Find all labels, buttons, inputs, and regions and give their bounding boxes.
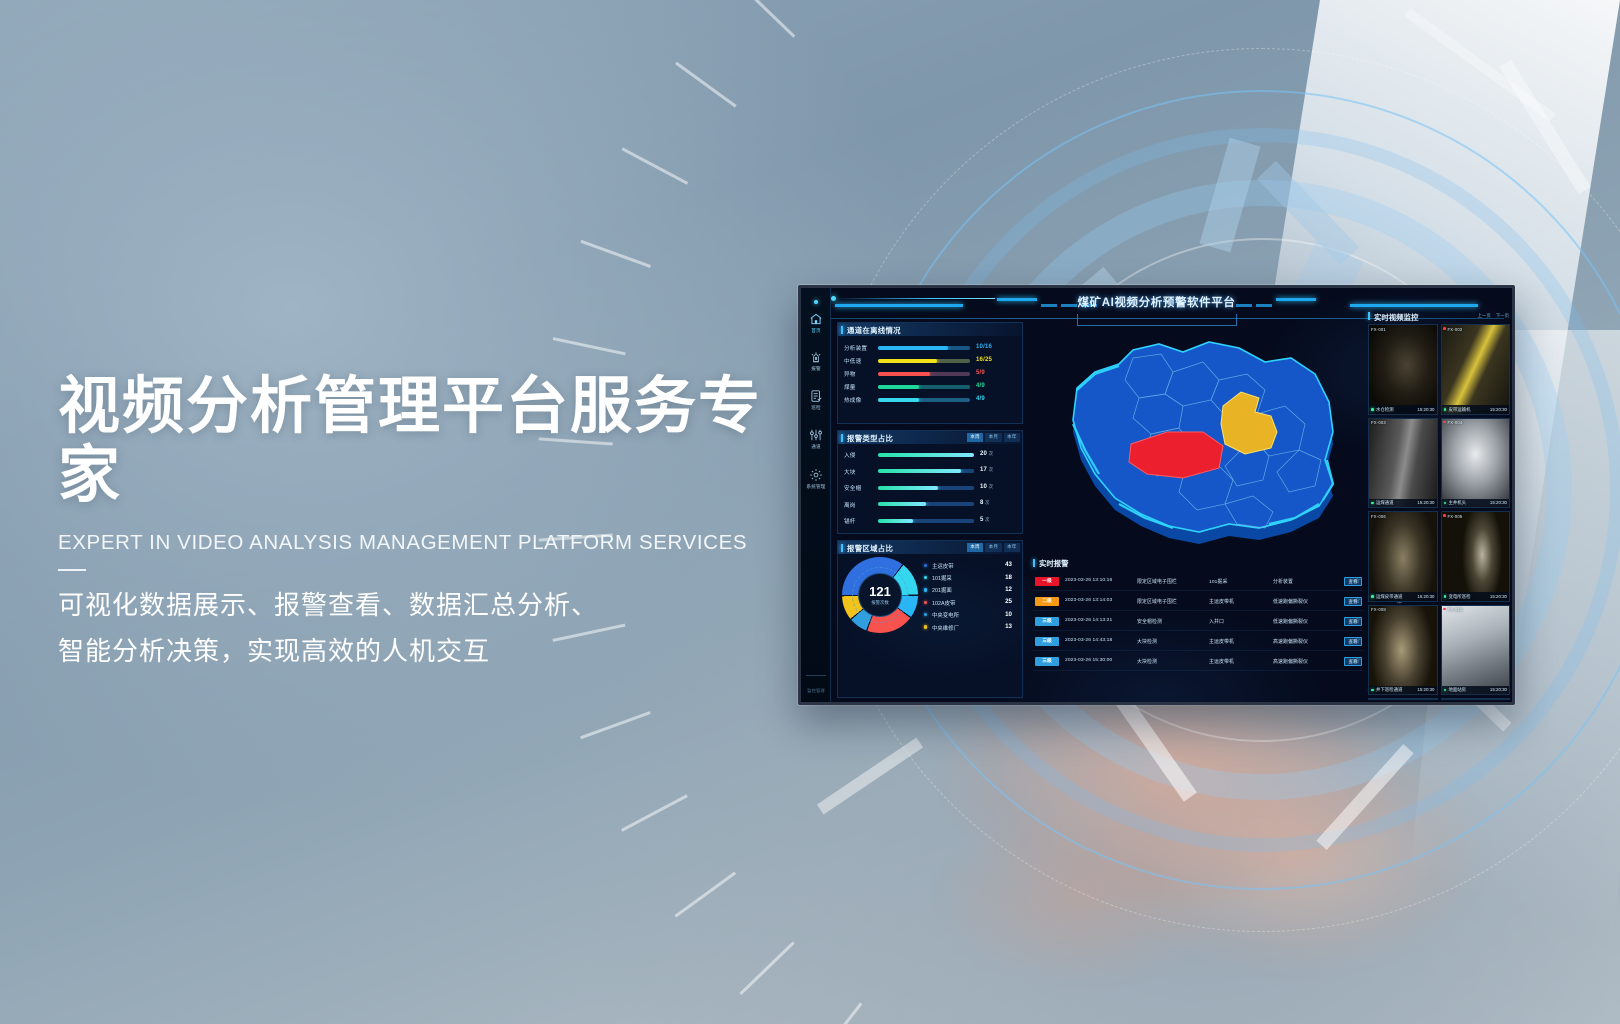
legend-color-dot: [924, 576, 927, 579]
alarm-type-panel-header: 报警类型占比 本周本月本年: [838, 431, 1022, 444]
alarm-type-track: [878, 502, 974, 506]
sidebar-item-system[interactable]: 系统管理: [801, 468, 831, 490]
video-scene: [1369, 606, 1437, 695]
decor-tick: [675, 62, 737, 108]
legend-value: 18: [1005, 574, 1012, 581]
alarm-type-row: 离岗8次: [838, 498, 1022, 515]
decor-tick: [740, 0, 795, 38]
tab-本年[interactable]: 本年: [1004, 433, 1020, 442]
alarm-area-legend: 主运皮带43101掘采18201掘面12102A皮带25中央变电所10中央维修厂…: [924, 559, 1018, 633]
legend-value: 25: [1005, 598, 1012, 605]
channel-row-value: 10/16: [976, 344, 992, 350]
alarm-location: 主运皮带机: [1209, 638, 1234, 645]
video-cell-footer: 入井盘查15:20:30: [1369, 698, 1437, 699]
sidebar-item-inspection[interactable]: 巡检: [801, 389, 831, 411]
recording-indicator: [1443, 327, 1446, 330]
video-cell-time: 15:20:30: [1417, 687, 1434, 692]
channel-panel-title: 通道在离线情况: [847, 325, 901, 336]
video-channel-id: FX-001: [1371, 327, 1386, 332]
alarm-level-badge: 三级: [1035, 617, 1059, 626]
online-led-icon: [1371, 689, 1374, 692]
video-prev-page[interactable]: 上一页: [1478, 313, 1491, 319]
legend-color-dot: [924, 588, 927, 591]
tab-本周[interactable]: 本周: [967, 433, 983, 442]
video-cell[interactable]: FX-006运煤皮带通道15:20:30: [1368, 511, 1438, 602]
alarm-event: 大块检测: [1137, 658, 1157, 665]
panel-accent-bar: [841, 434, 843, 442]
panel-accent-bar: [1368, 312, 1370, 320]
video-pager[interactable]: 上一页 下一页: [1478, 313, 1509, 319]
alarm-type-value: 10次: [980, 484, 993, 490]
alarm-light-icon: [809, 350, 823, 364]
sidebar-item-alarm[interactable]: 报警: [801, 350, 831, 372]
alarm-device: 低速跑偏撕裂仪: [1273, 598, 1308, 605]
dashboard-sidebar: 首页 报警: [801, 288, 831, 702]
video-channel-id: FX-004: [1448, 420, 1463, 425]
hero-desc-line-2: 智能分析决策，实现高效的人机交互: [58, 629, 818, 675]
video-cell-footer: 水仓检测15:20:30: [1369, 405, 1437, 414]
realtime-alarm-title: 实时报警: [1039, 558, 1069, 569]
channel-row: 煤量4/9: [838, 380, 1022, 393]
alarm-view-button[interactable]: 查看: [1344, 637, 1362, 646]
legend-row: 中央变电所10: [924, 609, 1018, 621]
decor-tick: [814, 1003, 862, 1024]
video-cell-name: 运煤通道: [1376, 500, 1394, 506]
video-cell[interactable]: FX-002皮带运输机15:20:30: [1441, 324, 1511, 415]
video-cell-time: 15:20:30: [1417, 500, 1434, 505]
panel-accent-bar: [1033, 559, 1035, 567]
channel-row-track: [878, 346, 970, 350]
alarm-type-track: [878, 486, 974, 490]
alarm-device: 分析装置: [1273, 578, 1293, 585]
video-cell-footer: 井下巡检通道15:20:30: [1369, 686, 1437, 695]
realtime-alarm-header: 实时报警: [1033, 556, 1364, 569]
panel-accent-bar: [841, 544, 843, 552]
alarm-time: 2023-03-26 15:30:00: [1065, 658, 1112, 663]
alarm-type-fill: [878, 453, 974, 457]
channel-row-track: [878, 385, 970, 389]
online-led-icon: [1444, 408, 1447, 411]
channel-row-label: 煤量: [844, 383, 856, 391]
alarm-event: 大块检测: [1137, 638, 1157, 645]
table-row[interactable]: 二级2023-03-26 13:14:03限定区域电子围栏主运皮带机低速跑偏撕裂…: [1033, 591, 1364, 611]
video-panel-header: 实时视频监控 上一页 下一页: [1368, 310, 1510, 322]
video-cell-name: 运煤皮带通道: [1376, 594, 1402, 600]
alarm-location: 主运皮带机: [1209, 658, 1234, 665]
channel-row-label: 异物: [844, 370, 856, 378]
alarm-level-badge: 一级: [1035, 577, 1059, 586]
legend-label: 中央维修厂: [932, 624, 959, 632]
sidebar-status-dot: [814, 300, 818, 304]
sidebar-item-system-label: 系统管理: [801, 484, 831, 490]
sidebar-item-channel[interactable]: 通道: [801, 428, 831, 450]
video-grid: FX-001水仓检测15:20:30FX-002皮带运输机15:20:30FX-…: [1368, 324, 1510, 700]
channel-row: 中低速16/25: [838, 354, 1022, 367]
hero-subhead: EXPERT IN VIDEO ANALYSIS MANAGEMENT PLAT…: [58, 531, 818, 555]
sidebar-item-home-label: 首页: [801, 328, 831, 334]
monitor-frame: 煤矿AI视频分析预警软件平台 首页: [798, 285, 1515, 705]
alarm-type-track: [878, 453, 974, 457]
alarm-type-label: 入侵: [844, 451, 856, 459]
decor-tick: [622, 147, 689, 184]
video-monitor-panel: 实时视频监控 上一页 下一页 FX-001水仓检测15:20:30FX-002皮…: [1368, 310, 1510, 700]
online-led-icon: [1444, 502, 1447, 505]
channel-rows: 分析装置10/16中低速16/25异物5/9煤量4/9热成像4/9: [838, 336, 1022, 406]
alarm-type-value: 20次: [980, 451, 993, 457]
channel-row-value: 4/9: [976, 383, 985, 389]
legend-color-dot: [924, 625, 927, 628]
alarm-type-value: 8次: [980, 500, 990, 506]
alarm-type-row: 入侵20次: [838, 448, 1022, 465]
alarm-area-donut: 121 报警次数: [842, 557, 918, 633]
recording-indicator: [1443, 514, 1446, 517]
home-icon: [809, 312, 823, 326]
alarm-type-label: 大块: [844, 468, 856, 476]
online-led-icon: [1371, 595, 1374, 598]
alarm-type-value: 17次: [980, 467, 993, 473]
alarm-level-badge: 三级: [1035, 637, 1059, 646]
video-scene: [1369, 325, 1437, 414]
video-cell-time: 15:20:30: [1417, 594, 1434, 599]
video-cell-time: 15:20:30: [1490, 687, 1507, 692]
channel-row-label: 中低速: [844, 357, 861, 365]
channel-row-track: [878, 372, 970, 376]
legend-label: 102A皮带: [932, 599, 955, 607]
donut-total-caption: 报警次数: [871, 600, 889, 606]
decor-tick: [580, 711, 651, 739]
video-channel-id: FX-003: [1371, 420, 1386, 425]
alarm-level-badge: 三级: [1035, 657, 1059, 666]
alarm-time: 2023-03-26 13:14:03: [1065, 598, 1112, 603]
alarm-type-tabs[interactable]: 本周本月本年: [967, 433, 1020, 442]
channel-row-value: 16/25: [976, 357, 992, 363]
alarm-time: 2023-03-26 14:43:18: [1065, 638, 1112, 643]
alarm-time: 2023-03-26 13:10:16: [1065, 578, 1112, 583]
video-scene: [1442, 419, 1510, 508]
tab-本年[interactable]: 本年: [1004, 543, 1020, 552]
sidebar-item-alarm-label: 报警: [801, 366, 831, 372]
legend-row: 主运皮带43: [924, 559, 1018, 571]
legend-label: 主运皮带: [932, 562, 954, 570]
panel-accent-bar: [841, 326, 843, 334]
legend-value: 10: [1005, 611, 1012, 618]
decor-tick: [580, 240, 651, 268]
decor-tick: [739, 941, 794, 995]
video-channel-id: FX-008: [1371, 607, 1386, 612]
alarm-type-label: 离岗: [844, 501, 856, 509]
realtime-alarm-rows: 一级2023-03-26 13:10:16限定区域电子围栏101掘采分析装置一矿…: [1033, 571, 1364, 700]
alarm-area-panel-header: 报警区域占比 本周本月本年: [838, 541, 1022, 554]
channel-row-label: 分析装置: [844, 344, 867, 352]
channel-row: 热成像4/9: [838, 393, 1022, 406]
video-panel-title: 实时视频监控: [1374, 312, 1418, 323]
hero-headline: 视频分析管理平台服务专家: [58, 372, 818, 511]
sliders-icon: [809, 428, 823, 442]
alarm-type-fill: [878, 486, 938, 490]
alarm-type-value: 5次: [980, 517, 990, 523]
video-cell-name: 井下巡检通道: [1376, 687, 1402, 693]
dashboard-title: 煤矿AI视频分析预警软件平台: [801, 294, 1512, 310]
clipboard-check-icon: [809, 389, 823, 403]
legend-label: 101掘采: [932, 574, 952, 582]
video-scene: [1442, 512, 1510, 601]
channel-status-panel: 通道在离线情况 分析装置10/16中低速16/25异物5/9煤量4/9热成像4/…: [837, 322, 1023, 424]
alarm-event: 安全帽检测: [1137, 618, 1162, 625]
alarm-type-label: 安全帽: [844, 484, 861, 492]
online-led-icon: [1444, 689, 1447, 692]
alarm-type-label: 锚杆: [844, 517, 856, 525]
video-cell-name: 主井机头: [1449, 500, 1467, 506]
alarm-view-button[interactable]: 查看: [1344, 597, 1362, 606]
alarm-area-panel: 报警区域占比 本周本月本年 121 报警次数 主运皮带43101掘采18201掘…: [837, 540, 1023, 698]
video-channel-id: FX-002: [1448, 327, 1463, 332]
video-channel-id: FX-010: [1448, 607, 1463, 612]
alarm-location: 主运皮带机: [1209, 598, 1234, 605]
video-cell-footer: 皮带运输机15:20:30: [1442, 405, 1510, 414]
channel-row-value: 4/9: [976, 396, 985, 402]
decor-tick: [553, 337, 626, 355]
video-scene: [1369, 419, 1437, 508]
legend-label: 201掘面: [932, 586, 952, 594]
province-map[interactable]: [1033, 322, 1373, 554]
video-cell-footer: 主井机头15:20:30: [1442, 499, 1510, 508]
legend-label: 中央变电所: [932, 611, 959, 619]
channel-row-value: 5/9: [976, 370, 985, 376]
table-row[interactable]: 三级2023-03-26 14:43:18大块检测主运皮带机高速跑偏撕裂仪二矿未…: [1033, 631, 1364, 651]
legend-value: 43: [1005, 561, 1012, 568]
alarm-device: 高速跑偏撕裂仪: [1273, 638, 1308, 645]
video-cell-footer: 地面站房15:20:30: [1442, 686, 1510, 695]
legend-value: 12: [1005, 586, 1012, 593]
video-cell[interactable]: FX-004主井机头15:20:30: [1441, 418, 1511, 509]
donut-center: 121 报警次数: [858, 573, 902, 617]
channel-row-track: [878, 359, 970, 363]
channel-row-label: 热成像: [844, 396, 861, 404]
tab-本月[interactable]: 本月: [985, 433, 1001, 442]
sidebar-footer-label: 监控管理: [801, 688, 831, 694]
monitor-bezel-bottom: [801, 702, 1512, 705]
alarm-view-button[interactable]: 查看: [1344, 577, 1362, 586]
online-led-icon: [1444, 595, 1447, 598]
legend-color-dot: [924, 613, 927, 616]
alarm-type-track: [878, 519, 974, 523]
alarm-type-row: 锚杆5次: [838, 514, 1022, 531]
dashboard-screen: 煤矿AI视频分析预警软件平台 首页: [801, 288, 1512, 702]
legend-row: 201掘面12: [924, 584, 1018, 596]
alarm-type-panel: 报警类型占比 本周本月本年 入侵20次大块17次安全帽10次离岗8次锚杆5次: [837, 430, 1023, 534]
map-svg: [1033, 322, 1373, 554]
tab-本周[interactable]: 本周: [967, 543, 983, 552]
video-cell[interactable]: FX-008井下巡检通道15:20:30: [1368, 605, 1438, 696]
alarm-device: 高速跑偏撕裂仪: [1273, 658, 1308, 665]
channel-row: 异物5/9: [838, 367, 1022, 380]
legend-row: 101掘采18: [924, 571, 1018, 583]
table-row[interactable]: 一级2023-03-26 13:10:16限定区域电子围栏101掘采分析装置一矿…: [1033, 571, 1364, 591]
sidebar-item-inspection-label: 巡检: [801, 405, 831, 411]
video-channel-id: FX-005: [1448, 514, 1463, 519]
video-cell[interactable]: FX-005变电所巡检15:20:30: [1441, 511, 1511, 602]
video-scene: [1369, 512, 1437, 601]
video-scene: [1442, 325, 1510, 414]
legend-value: 13: [1005, 623, 1012, 630]
hero-desc-line-1: 可视化数据展示、报警查看、数据汇总分析、: [58, 583, 818, 629]
alarm-view-button[interactable]: 查看: [1344, 617, 1362, 626]
video-cell[interactable]: FX-010地面站房15:20:30: [1441, 605, 1511, 696]
hero-copy: 视频分析管理平台服务专家 EXPERT IN VIDEO ANALYSIS MA…: [58, 372, 818, 674]
video-cell[interactable]: FX-001水仓检测15:20:30: [1368, 324, 1438, 415]
alarm-event: 限定区域电子围栏: [1137, 578, 1177, 585]
alarm-area-panel-title: 报警区域占比: [847, 543, 893, 554]
gear-icon: [809, 468, 823, 482]
alarm-location: 101掘采: [1209, 578, 1227, 585]
legend-color-dot: [924, 601, 927, 604]
online-led-icon: [1371, 502, 1374, 505]
video-cell-time: 15:20:30: [1490, 500, 1507, 505]
legend-row: 102A皮带25: [924, 596, 1018, 608]
video-cell-name: 变电所巡检: [1449, 594, 1471, 600]
alarm-view-button[interactable]: 查看: [1344, 657, 1362, 666]
hero-divider: [58, 569, 86, 571]
video-cell[interactable]: FX-003运煤通道15:20:30: [1368, 418, 1438, 509]
alarm-level-badge: 二级: [1035, 597, 1059, 606]
alarm-type-fill: [878, 502, 926, 506]
alarm-event: 限定区域电子围栏: [1137, 598, 1177, 605]
legend-row: 中央维修厂13: [924, 621, 1018, 633]
channel-row: 分析装置10/16: [838, 341, 1022, 354]
alarm-area-tabs[interactable]: 本周本月本年: [967, 543, 1020, 552]
alarm-type-panel-title: 报警类型占比: [847, 433, 893, 444]
decor-tick: [621, 794, 688, 831]
sidebar-item-home[interactable]: 首页: [801, 312, 831, 334]
donut-total-value: 121: [869, 585, 891, 598]
video-cell-footer: 变电所巡检15:20:30: [1442, 592, 1510, 601]
video-cell-name: 地面站房: [1449, 687, 1467, 693]
video-cell-time: 15:20:30: [1490, 594, 1507, 599]
alarm-type-row: 大块17次: [838, 465, 1022, 482]
online-led-icon: [1371, 408, 1374, 411]
alarm-type-track: [878, 469, 974, 473]
sidebar-item-channel-label: 通道: [801, 444, 831, 450]
video-cell-footer: 运煤皮带通道15:20:30: [1369, 592, 1437, 601]
realtime-alarm-panel: 实时报警 一级2023-03-26 13:10:16限定区域电子围栏101掘采分…: [1033, 556, 1364, 700]
alarm-type-fill: [878, 469, 961, 473]
channel-row-track: [878, 398, 970, 402]
channel-panel-header: 通道在离线情况: [838, 323, 1022, 336]
alarm-device: 低速跑偏撕裂仪: [1273, 618, 1308, 625]
video-scene: [1442, 606, 1510, 695]
video-cell-name: 水仓检测: [1376, 407, 1394, 413]
video-channel-id: FX-006: [1371, 514, 1386, 519]
video-cell-time: 15:20:30: [1417, 407, 1434, 412]
alarm-location: 入井口: [1209, 618, 1224, 625]
alarm-type-row: 安全帽10次: [838, 481, 1022, 498]
sidebar-divider: [806, 675, 826, 676]
alarm-type-fill: [878, 519, 913, 523]
alarm-type-rows: 入侵20次大块17次安全帽10次离岗8次锚杆5次: [838, 444, 1022, 531]
table-row[interactable]: 三级2023-03-26 15:30:00大块检测主运皮带机高速跑偏撕裂仪二矿未…: [1033, 651, 1364, 671]
video-cell-footer: 副井检修15:20:30: [1442, 698, 1510, 699]
tab-本月[interactable]: 本月: [985, 543, 1001, 552]
video-cell-name: 皮带运输机: [1449, 407, 1471, 413]
table-row[interactable]: 三级2023-03-26 14:13:21安全帽检测入井口低速跑偏撕裂仪二矿未处…: [1033, 611, 1364, 631]
video-cell[interactable]: FX-011入井盘查15:20:30: [1368, 698, 1438, 700]
legend-color-dot: [924, 564, 927, 567]
alarm-time: 2023-03-26 14:13:21: [1065, 618, 1112, 623]
video-cell-time: 15:20:30: [1490, 407, 1507, 412]
video-next-page[interactable]: 下一页: [1496, 313, 1509, 319]
decor-tick: [674, 872, 736, 918]
video-cell-footer: 运煤通道15:20:30: [1369, 499, 1437, 508]
video-cell[interactable]: FX-012副井检修15:20:30: [1441, 698, 1511, 700]
